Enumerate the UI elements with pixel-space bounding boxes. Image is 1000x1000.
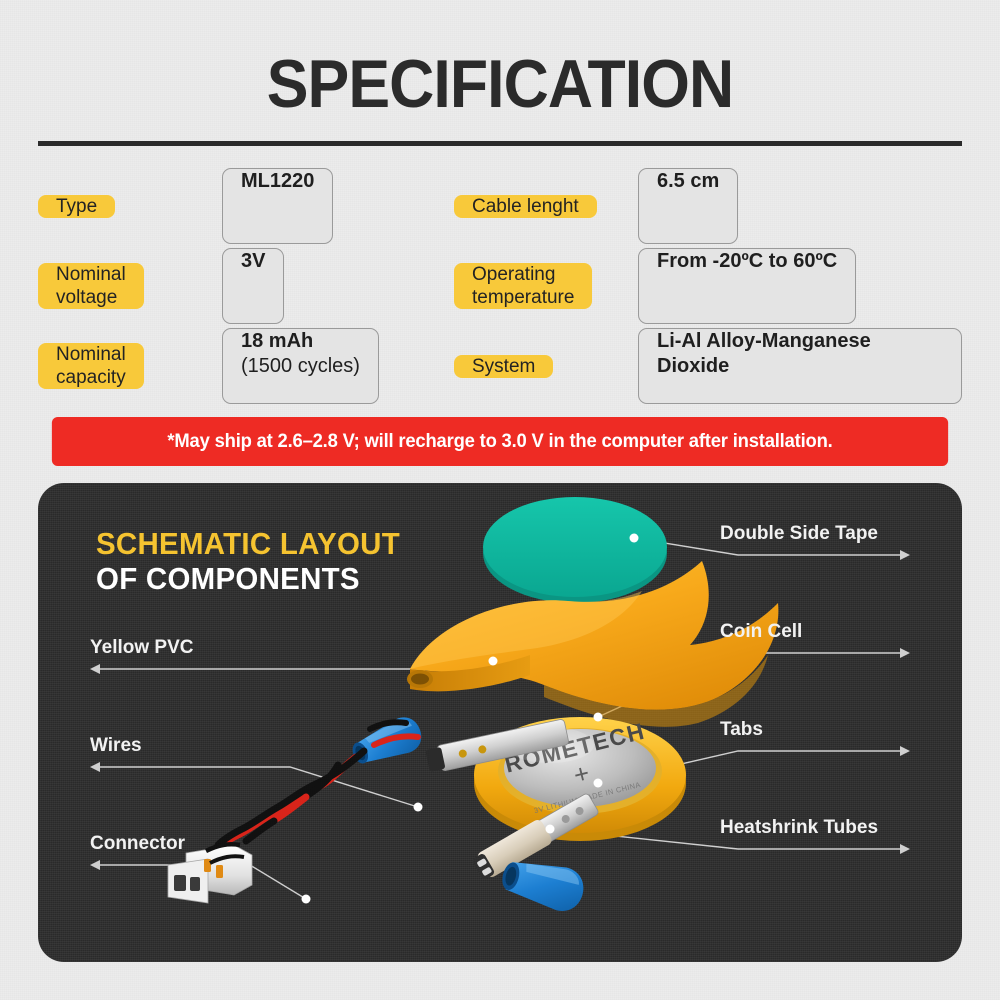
table-row: Nominal capacity [38, 332, 222, 400]
wires-part [214, 722, 418, 851]
spec-label-type: Type [38, 195, 115, 218]
callout-coin-cell: Coin Cell [720, 621, 802, 643]
callout-tabs: Tabs [720, 719, 763, 741]
callout-connector: Connector [90, 833, 185, 855]
spec-value-system-cell: Li-Al Alloy-Manganese Dioxide [638, 332, 962, 400]
callout-double-side-tape: Double Side Tape [720, 523, 878, 545]
spec-label-nominal-capacity: Nominal capacity [38, 343, 144, 389]
callout-yellow-pvc: Yellow PVC [90, 637, 193, 659]
table-row: Type [38, 172, 222, 240]
schematic-panel: SCHEMATIC LAYOUT OF COMPONENTS [38, 483, 962, 962]
table-row: System [454, 332, 638, 400]
spec-value-operating-temperature-text: From -20ºC to 60ºC [657, 249, 837, 274]
spec-value-cable-length-cell: 6.5 cm [638, 172, 962, 240]
table-row: Nominal voltage [38, 252, 222, 320]
spec-value-nominal-capacity: 18 mAh (1500 cycles) [222, 328, 379, 404]
spec-value-nominal-capacity-sub: (1500 cycles) [241, 354, 360, 379]
leader-lines-left [94, 661, 493, 899]
page-title: SPECIFICATION [40, 48, 960, 120]
spec-value-system-text: Li-Al Alloy-Manganese Dioxide [657, 329, 943, 379]
title-divider [38, 141, 962, 146]
double-side-tape-part [483, 497, 667, 603]
shipping-notice-text: *May ship at 2.6–2.8 V; will recharge to… [167, 431, 832, 453]
specification-table: Type ML1220 Cable lenght 6.5 cm Nominal … [38, 166, 962, 406]
schematic-illustration: ROMETECH + 3V LITHIUM MADE IN CHINA [38, 483, 962, 962]
spec-value-type-text: ML1220 [241, 169, 314, 194]
spec-value-cable-length-text: 6.5 cm [657, 169, 719, 194]
spec-label-operating-temperature: Operating temperature [454, 263, 592, 309]
spec-value-type: ML1220 [222, 168, 333, 244]
spec-value-system: Li-Al Alloy-Manganese Dioxide [638, 328, 962, 404]
spec-value-nominal-voltage-text: 3V [241, 249, 265, 274]
table-row: Operating temperature [454, 252, 638, 320]
infographic-page: SPECIFICATION Type ML1220 Cable lenght 6… [0, 0, 1000, 1000]
callout-wires: Wires [90, 735, 142, 757]
spec-value-nominal-capacity-cell: 18 mAh (1500 cycles) [222, 332, 418, 400]
spec-label-cable-length: Cable lenght [454, 195, 597, 218]
spec-value-nominal-voltage-cell: 3V [222, 252, 418, 320]
spec-value-nominal-voltage: 3V [222, 248, 284, 324]
shipping-notice-banner: *May ship at 2.6–2.8 V; will recharge to… [52, 417, 948, 466]
spec-value-operating-temperature: From -20ºC to 60ºC [638, 248, 856, 324]
spec-label-system: System [454, 355, 553, 378]
spec-label-nominal-voltage: Nominal voltage [38, 263, 144, 309]
spec-value-cable-length: 6.5 cm [638, 168, 738, 244]
table-row: Cable lenght [454, 172, 638, 240]
spec-value-type-cell: ML1220 [222, 172, 418, 240]
spec-value-nominal-capacity-text: 18 mAh [241, 329, 360, 354]
spec-value-operating-temperature-cell: From -20ºC to 60ºC [638, 252, 962, 320]
callout-heatshrink-tubes: Heatshrink Tubes [720, 817, 878, 839]
leader-arrowheads-right [900, 550, 910, 854]
